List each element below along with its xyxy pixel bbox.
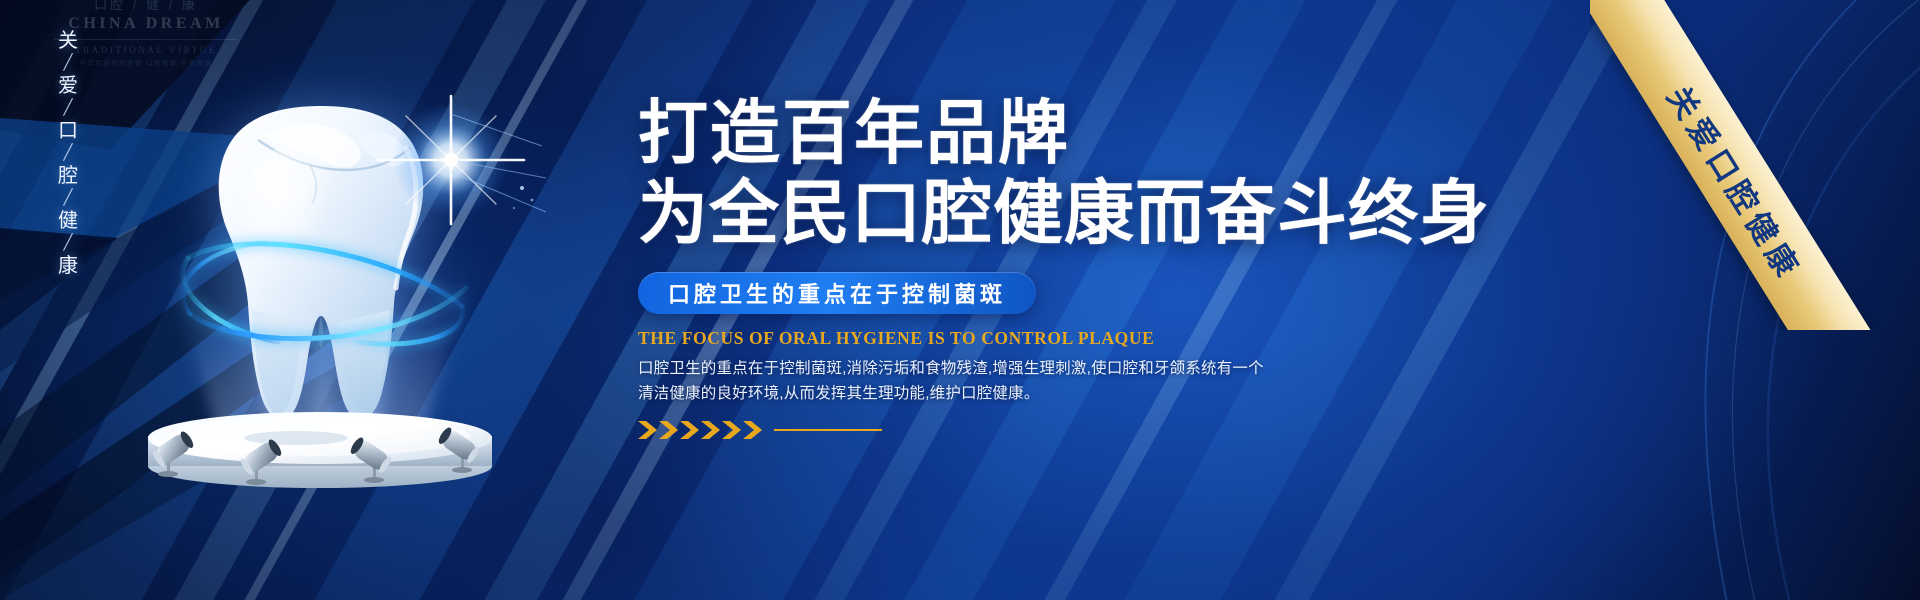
text-content-block: 打造百年品牌 为全民口腔健康而奋斗终身 口腔卫生的重点在于控制菌斑 THE FO… [638,96,1678,441]
subtitle-pill[interactable]: 口腔卫生的重点在于控制菌斑 [638,272,1036,314]
vertical-slogan-separator: ╱ [48,235,88,253]
vertical-slogan-separator: ╱ [48,55,88,73]
tooth-illustration [118,70,518,500]
corner-ribbon-label: 关爱口腔健康 [1659,76,1815,288]
vertical-slogan-char: 口 [48,118,88,145]
spotlight-icon [230,430,286,486]
vertical-slogan-separator: ╱ [48,145,88,163]
spotlight-icon [434,418,490,474]
headline-line-2: 为全民口腔健康而奋斗终身 [638,176,1678,250]
vertical-slogan-separator: ╱ [48,100,88,118]
watermark-chinese: 口腔 / 健 / 康 [46,0,246,13]
tooth-icon [206,100,436,430]
vertical-slogan-char: 关 [48,28,88,55]
headline: 打造百年品牌 为全民口腔健康而奋斗终身 [638,96,1678,250]
subtitle-pill-label: 口腔卫生的重点在于控制菌斑 [668,277,1006,309]
vertical-slogan: 关 ╱ 爱 ╱ 口 ╱ 腔 ╱ 健 ╱ 康 [48,28,88,280]
body-copy-line-1: 口腔卫生的重点在于控制菌斑,消除污垢和食物残渣,增强生理刺激,使口腔和牙颌系统有… [638,356,1158,381]
gold-rule [774,429,882,431]
dental-promo-banner: 口腔 / 健 / 康 CHINA DREAM TRADITIONAL VIRTU… [0,0,1920,600]
chevron-right-icon [638,419,766,441]
vertical-slogan-char: 健 [48,208,88,235]
vertical-slogan-char: 腔 [48,163,88,190]
vertical-slogan-char: 康 [48,253,88,280]
vertical-slogan-separator: ╱ [48,190,88,208]
vertical-slogan-char: 爱 [48,73,88,100]
spotlight-icon [346,428,402,484]
english-subtitle: THE FOCUS OF ORAL HYGIENE IS TO CONTROL … [638,328,1678,349]
chevron-decoration [638,419,1678,441]
headline-line-1: 打造百年品牌 [638,94,1070,172]
spotlight-icon [142,422,198,478]
body-copy-line-2: 清洁健康的良好环境,从而发挥其生理功能,维护口腔健康。 [638,381,1158,406]
body-copy: 口腔卫生的重点在于控制菌斑,消除污垢和食物残渣,增强生理刺激,使口腔和牙颌系统有… [638,356,1158,406]
